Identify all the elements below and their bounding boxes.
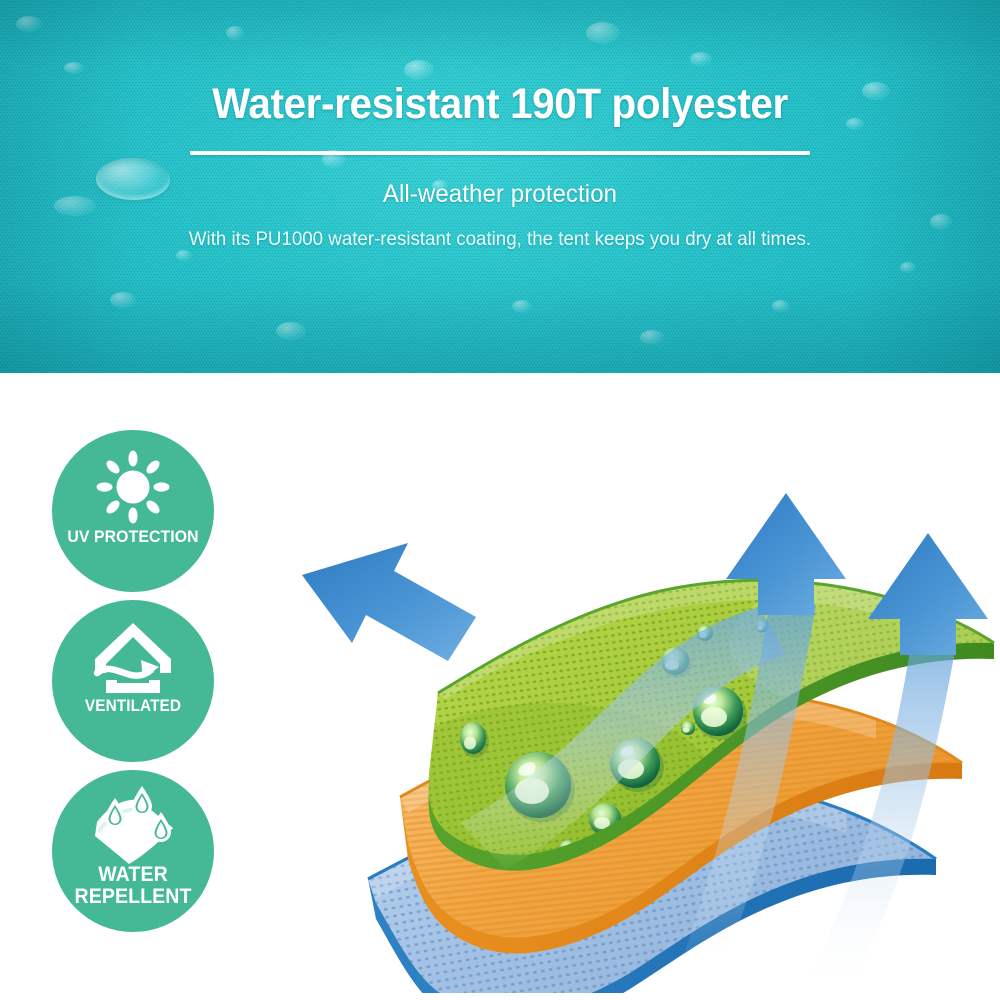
hero-body-text: With its PU1000 water-resistant coating,… [20,226,980,254]
hero-divider [190,151,810,155]
badge-label-line2: REPELLENT [75,885,192,908]
hero-subtitle: All-weather protection [20,180,980,209]
badge-label: VENTILATED [47,698,220,716]
hero-text-block: Water-resistant 190T polyester All-weath… [0,0,1000,254]
badge-ventilated: VENTILATED [52,600,214,762]
badge-label: WATER REPELLENT [47,864,220,909]
fabric-droplets-icon [52,784,214,870]
badge-uv-protection: UV PROTECTION [52,430,214,592]
badge-water-repellent: WATER REPELLENT [52,770,214,932]
hero-banner: Water-resistant 190T polyester All-weath… [0,0,1000,373]
badge-label-line1: WATER [98,863,168,886]
house-airflow-icon [52,614,214,700]
features-panel: UV PROTECTION VENTILATED [0,373,1000,1000]
three-layer-fabric-diagram [250,393,1000,993]
badge-label: UV PROTECTION [47,528,220,546]
feature-badge-list: UV PROTECTION VENTILATED [52,430,232,940]
sun-icon [52,444,214,530]
hero-title: Water-resistant 190T polyester [30,82,970,127]
